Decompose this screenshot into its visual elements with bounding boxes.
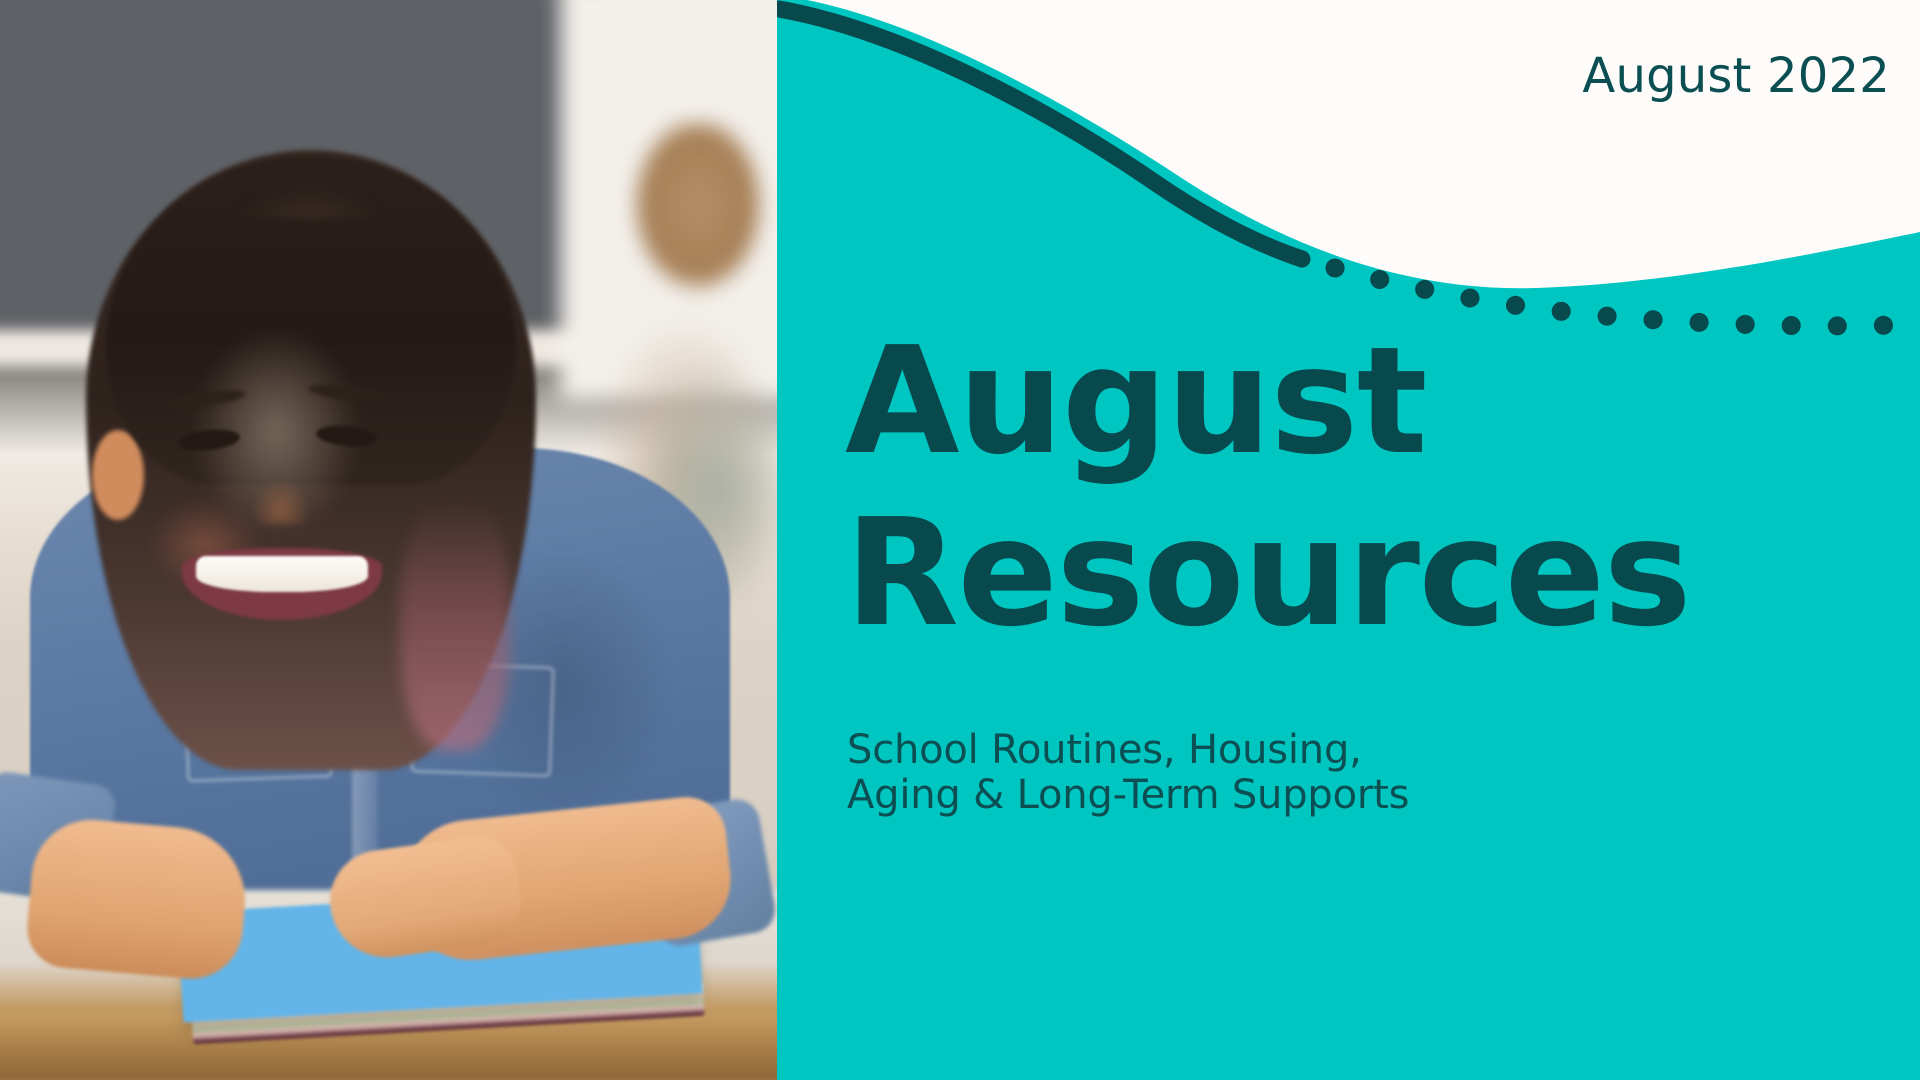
page-title: August Resources xyxy=(845,330,1875,644)
girl-hair-wisps xyxy=(210,128,410,218)
girl-nose xyxy=(252,480,310,524)
subtitle-line-1: School Routines, Housing, xyxy=(847,728,1747,773)
girl-ear xyxy=(92,430,144,520)
photo-background xyxy=(0,0,777,1080)
page-subtitle: School Routines, Housing, Aging & Long-T… xyxy=(847,728,1747,818)
hero-photo xyxy=(0,0,777,1080)
subtitle-line-2: Aging & Long-Term Supports xyxy=(847,773,1747,818)
slide-canvas: August 2022 August Resources School Rout… xyxy=(0,0,1920,1080)
title-line-1: August xyxy=(845,330,1875,472)
date-label: August 2022 xyxy=(1582,48,1890,104)
girl-teeth xyxy=(196,556,368,592)
title-line-2: Resources xyxy=(845,502,1875,644)
teal-panel: August 2022 August Resources School Rout… xyxy=(777,0,1920,1080)
